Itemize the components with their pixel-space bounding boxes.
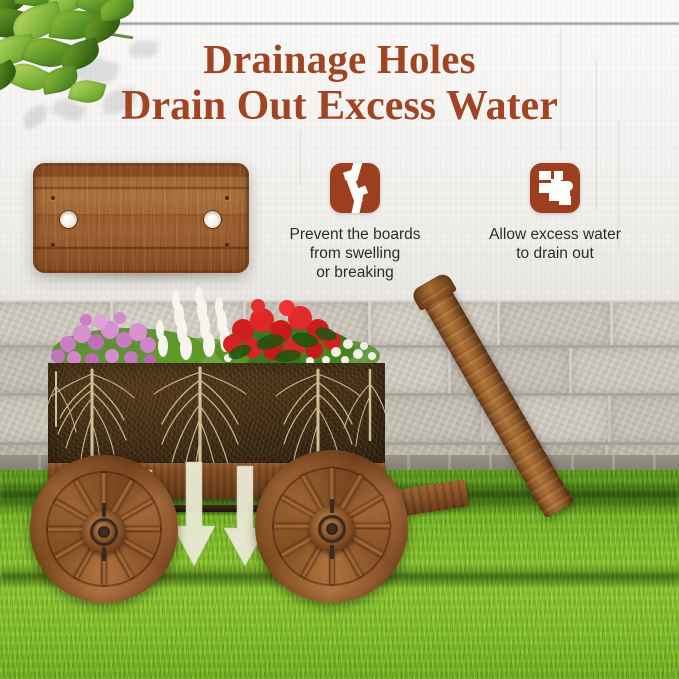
feature-prevent-swelling: Prevent the boards from swelling or brea…	[255, 163, 455, 282]
feature-1-line-2: from swelling	[310, 245, 400, 262]
screw-dot	[225, 196, 229, 200]
drainage-hole	[204, 211, 221, 228]
wheel-hub-pin	[102, 503, 106, 517]
screw-dot	[51, 243, 55, 247]
drain-pipe-icon	[530, 163, 580, 213]
wheel-hub-pin	[102, 547, 106, 561]
headline-line-1: Drainage Holes	[203, 36, 476, 82]
feature-1-line-3: or breaking	[316, 264, 394, 281]
feature-2-line-2: to drain out	[516, 245, 594, 262]
wheel-hub-pin	[330, 499, 334, 513]
wagon-wheel-left	[30, 455, 31, 456]
plank-seam	[33, 187, 249, 189]
screw-dot	[225, 243, 229, 247]
wheel-hub-core	[98, 526, 110, 538]
feature-1-line-1: Prevent the boards	[290, 226, 421, 243]
product-closeup-board	[33, 163, 249, 273]
cracked-board-icon	[330, 163, 380, 213]
drainage-hole	[60, 211, 77, 228]
product-marketing-image: Drainage Holes Drain Out Excess Water Pr…	[0, 0, 679, 679]
feature-2-line-1: Allow excess water	[489, 226, 621, 243]
wheel-hub-pin	[330, 545, 334, 559]
wagon-wheel-right	[255, 450, 256, 451]
feature-1-text: Prevent the boards from swelling or brea…	[255, 225, 455, 282]
screw-dot	[51, 196, 55, 200]
headline-line-2: Drain Out Excess Water	[0, 83, 679, 130]
feature-2-text: Allow excess water to drain out	[455, 225, 655, 263]
wheel-hub-core	[326, 523, 338, 535]
feature-allow-drainage: Allow excess water to drain out	[455, 163, 655, 263]
headline: Drainage Holes Drain Out Excess Water	[0, 36, 679, 130]
plank-seam	[33, 247, 249, 249]
